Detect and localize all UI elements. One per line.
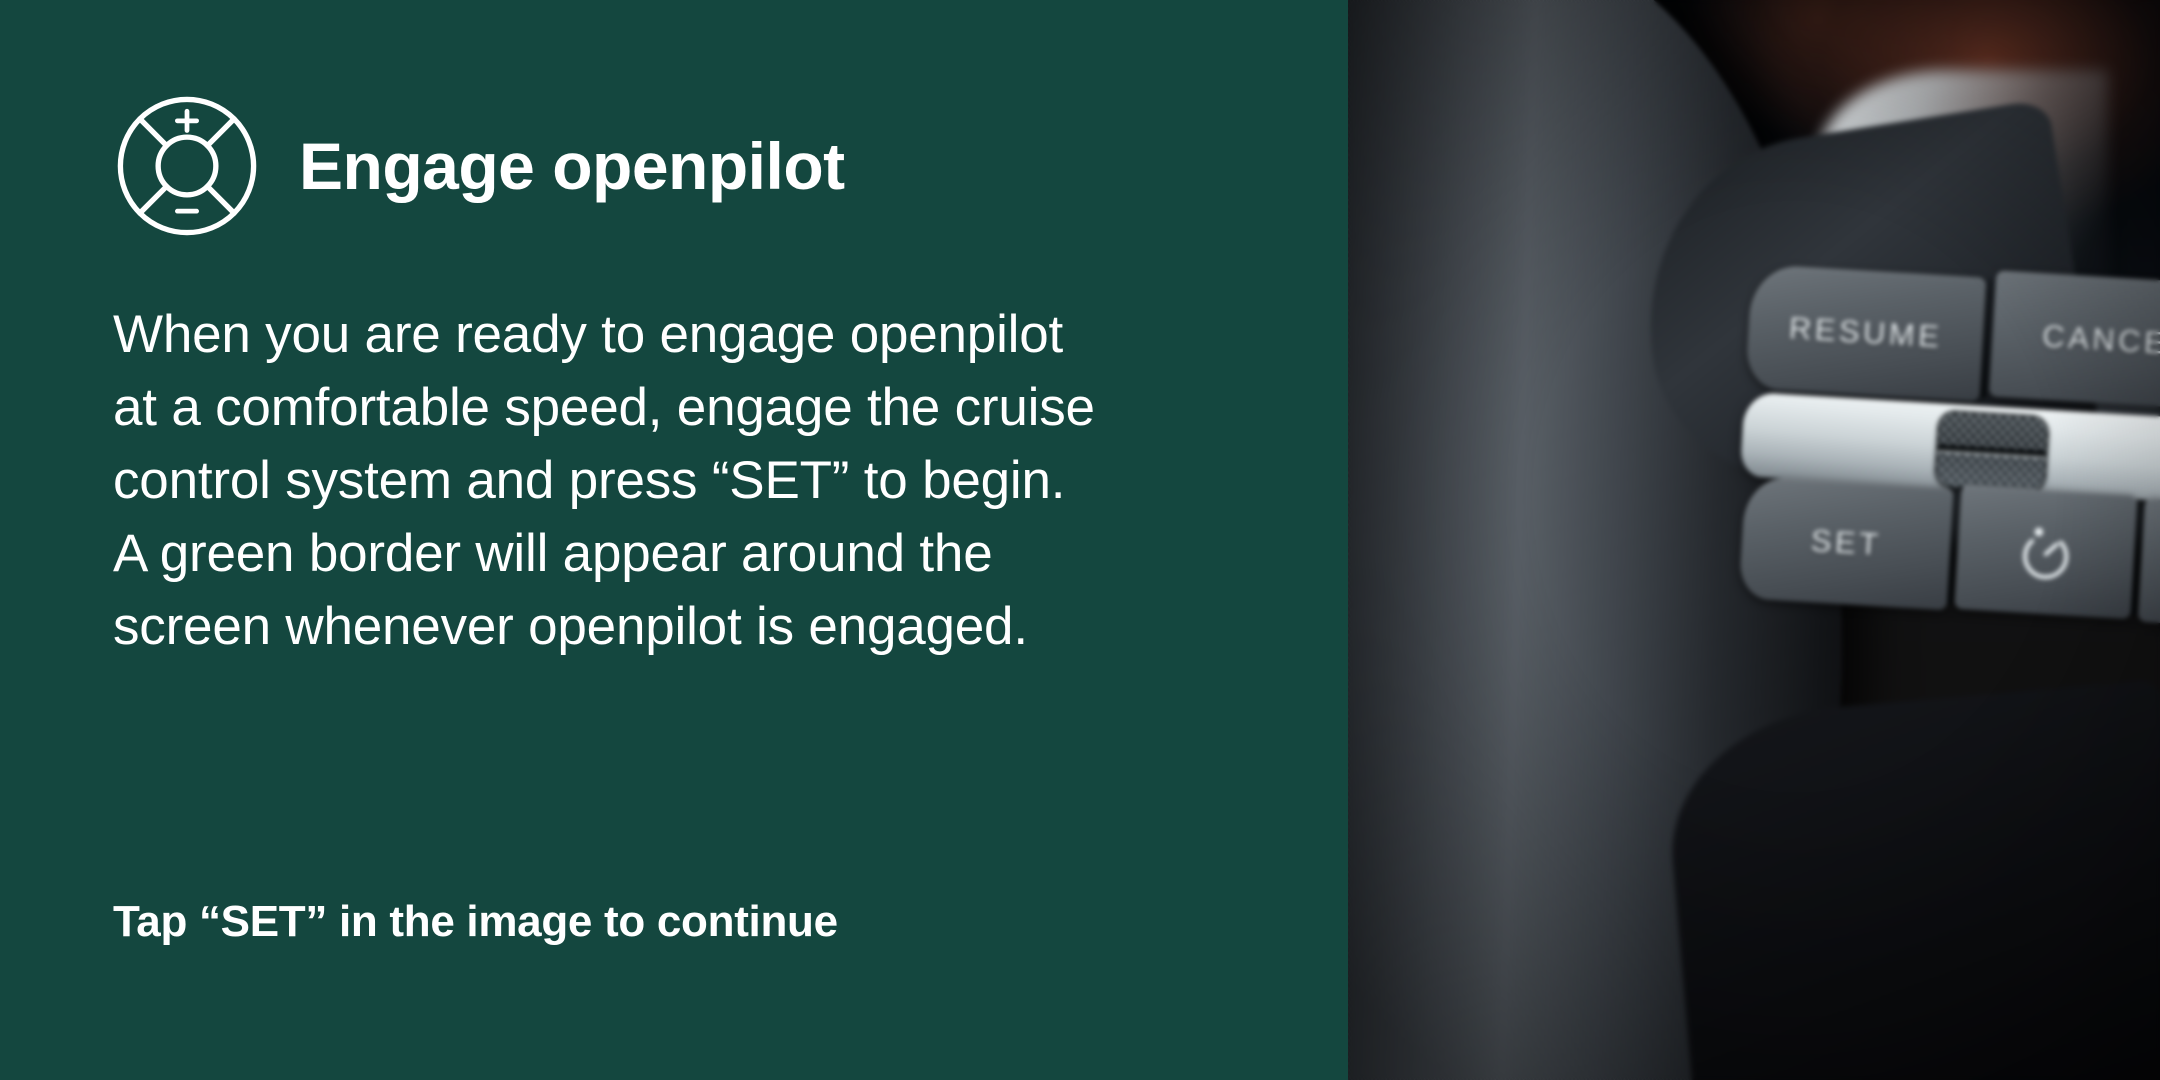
instruction-panel: Engage openpilot When you are ready to e… — [0, 0, 1348, 1080]
scroll-roller[interactable] — [1936, 412, 2048, 492]
body-line: When you are ready to engage openpilot — [113, 298, 1293, 371]
instruction-body: When you are ready to engage openpilot a… — [113, 298, 1293, 663]
set-button[interactable]: SET — [1739, 476, 1954, 610]
cancel-button-label: CANCEL — [2041, 318, 2160, 363]
body-line: screen whenever openpilot is engaged. — [113, 590, 1293, 663]
set-button-label: SET — [1810, 523, 1883, 563]
body-line: A green border will appear around the — [113, 517, 1293, 590]
onboarding-screen: Engage openpilot When you are ready to e… — [0, 0, 2160, 1080]
body-line: at a comfortable speed, engage the cruis… — [113, 371, 1293, 444]
body-line: control system and press “SET” to begin. — [113, 444, 1293, 517]
resume-button[interactable]: RESUME — [1745, 264, 1986, 402]
cruise-control-button-cluster: RESUME CANCEL SET — [1727, 242, 2160, 722]
page-title: Engage openpilot — [299, 133, 845, 199]
resume-button-label: RESUME — [1788, 310, 1944, 355]
call-to-action-text: Tap “SET” in the image to continue — [113, 897, 838, 947]
steering-wheel-photo[interactable]: RESUME CANCEL SET — [1348, 0, 2160, 1080]
following-distance-icon — [2011, 517, 2081, 587]
panel-header: Engage openpilot — [113, 92, 845, 240]
gap-distance-button[interactable] — [1954, 485, 2137, 619]
cruise-control-wheel-icon — [113, 92, 261, 240]
cancel-button[interactable]: CANCEL — [1989, 271, 2160, 411]
